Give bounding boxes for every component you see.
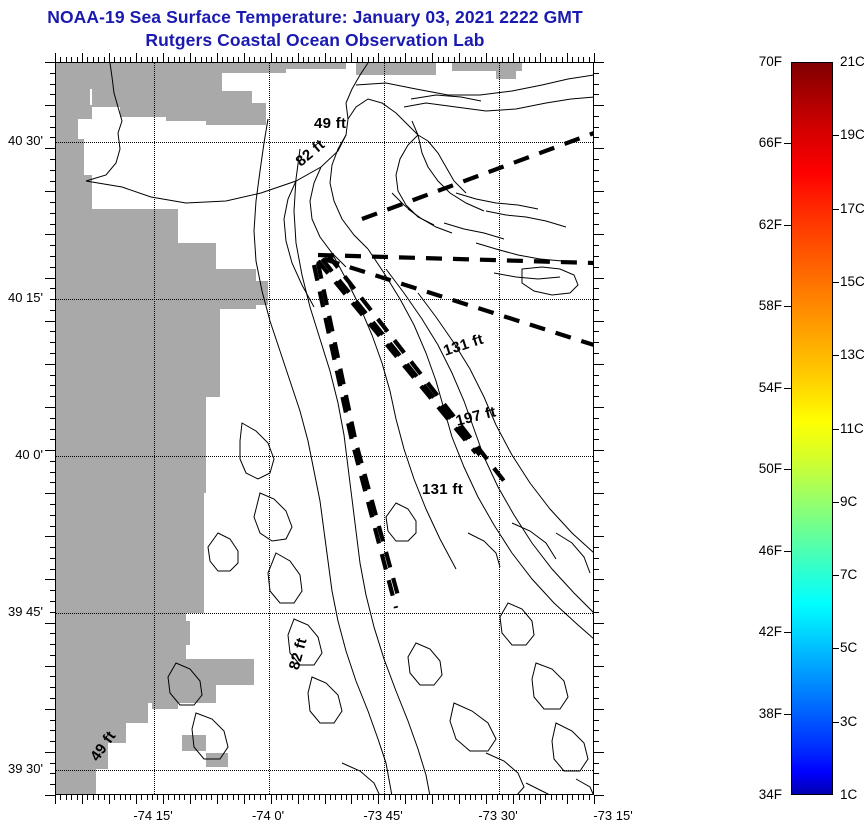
axis-tick-minor [502,57,503,62]
axis-tick-minor [50,170,55,171]
map-inner: 49 ft 82 ft 131 ft 197 ft 131 ft 82 ft 4… [56,63,593,794]
axis-tick-minor [50,299,55,300]
colorbar-label-fahrenheit: 38F [737,706,782,721]
axis-tick-major [244,53,245,62]
axis-tick-minor [594,310,599,311]
axis-tick-minor [475,57,476,62]
y-axis-label: 39 45' [0,604,43,619]
axis-tick-minor [578,795,579,800]
axis-tick-minor [50,84,55,85]
axis-tick-minor [411,57,412,62]
axis-tick-minor [50,159,55,160]
axis-tick-major [109,795,110,804]
axis-tick-minor [50,439,55,440]
axis-tick-minor [50,202,55,203]
axis-tick-minor [50,763,55,764]
axis-tick-minor [594,245,599,246]
axis-tick-major [45,666,55,667]
axis-tick-minor [594,515,599,516]
axis-tick-major [432,795,433,804]
x-axis-ticks-bottom [55,795,594,805]
axis-tick-minor [222,795,223,800]
title-line-1: NOAA-19 Sea Surface Temperature: January… [0,6,630,29]
axis-tick-minor [50,655,55,656]
axis-tick-minor [50,461,55,462]
axis-tick-minor [594,288,599,289]
axis-tick-minor [50,396,55,397]
axis-tick-major [45,795,55,796]
axis-tick-minor [147,795,148,800]
axis-tick-minor [443,795,444,800]
axis-tick-minor [346,795,347,800]
axis-tick-minor [195,795,196,800]
axis-tick-minor [422,795,423,800]
colorbar-label-celsius: 17C [840,201,864,216]
colorbar-label-fahrenheit: 42F [737,624,782,639]
axis-tick-minor [594,547,599,548]
axis-tick-minor [556,795,557,800]
axis-tick-minor [120,795,121,800]
axis-tick-minor [50,256,55,257]
axis-tick-major [163,795,164,804]
axis-tick-minor [201,795,202,800]
axis-tick-minor [98,795,99,800]
axis-tick-major [378,795,379,804]
axis-tick-minor [287,795,288,800]
coastline-bathymetry-overlay [56,63,593,794]
axis-tick-minor [475,795,476,800]
axis-tick-minor [594,159,599,160]
axis-tick-major [594,191,604,192]
axis-tick-minor [502,795,503,800]
axis-tick-minor [594,213,599,214]
axis-tick-minor [594,94,599,95]
axis-tick-minor [50,676,55,677]
axis-tick-minor [50,375,55,376]
axis-tick-minor [357,57,358,62]
axis-tick-minor [545,57,546,62]
colorbar-tick-c [833,282,839,283]
axis-tick-major [594,709,604,710]
axis-tick-minor [454,57,455,62]
axis-tick-minor [125,57,126,62]
axis-tick-minor [362,57,363,62]
axis-tick-minor [551,57,552,62]
axis-tick-minor [114,795,115,800]
axis-tick-minor [529,795,530,800]
axis-tick-major [540,795,541,804]
axis-tick-minor [594,353,599,354]
axis-tick-minor [50,601,55,602]
axis-tick-minor [98,57,99,62]
colorbar-label-fahrenheit: 50F [737,461,782,476]
axis-tick-minor [594,396,599,397]
axis-tick-major [459,795,460,804]
axis-tick-minor [303,795,304,800]
axis-tick-major [136,795,137,804]
axis-tick-major [594,234,604,235]
axis-tick-major [594,579,604,580]
axis-tick-major [82,795,83,804]
axis-tick-minor [50,127,55,128]
colorbar-label-celsius: 11C [840,421,864,436]
axis-tick-minor [594,526,599,527]
axis-tick-major [45,450,55,451]
axis-tick-major [190,53,191,62]
axis-tick-minor [492,795,493,800]
axis-tick-minor [141,57,142,62]
axis-tick-minor [50,137,55,138]
axis-tick-minor [60,795,61,800]
axis-tick-minor [50,741,55,742]
axis-tick-minor [50,526,55,527]
axis-tick-minor [130,795,131,800]
axis-tick-minor [50,720,55,721]
x-axis-label: -73 15' [573,808,653,823]
axis-tick-minor [508,795,509,800]
axis-tick-minor [481,57,482,62]
axis-tick-major [594,53,595,62]
y-axis-label: 39 30' [0,761,43,776]
axis-tick-minor [206,795,207,800]
axis-tick-minor [422,57,423,62]
axis-tick-major [45,623,55,624]
axis-tick-major [351,795,352,804]
axis-tick-minor [104,795,105,800]
axis-tick-minor [93,795,94,800]
axis-tick-minor [594,763,599,764]
axis-tick-major [217,53,218,62]
colorbar-label-celsius: 15C [840,274,864,289]
y-axis-label: 40 30' [0,133,43,148]
axis-tick-major [271,53,272,62]
axis-tick-major [594,364,604,365]
colorbar-tick-f [784,143,791,144]
axis-tick-minor [594,224,599,225]
axis-tick-major [405,53,406,62]
axis-tick-minor [594,385,599,386]
axis-tick-major [594,795,595,804]
axis-tick-minor [50,558,55,559]
axis-tick-minor [227,795,228,800]
axis-tick-minor [195,57,196,62]
axis-tick-minor [427,795,428,800]
axis-tick-minor [389,57,390,62]
axis-tick-minor [594,127,599,128]
axis-tick-major [45,148,55,149]
axis-tick-major [486,795,487,804]
axis-tick-minor [465,57,466,62]
axis-tick-minor [594,331,599,332]
colorbar-label-celsius: 5C [840,640,864,655]
axis-tick-minor [594,612,599,613]
axis-tick-minor [594,633,599,634]
axis-tick-minor [254,795,255,800]
axis-tick-minor [465,795,466,800]
axis-tick-minor [594,170,599,171]
axis-tick-minor [438,57,439,62]
axis-tick-major [136,53,137,62]
x-axis-label: -73 45' [343,808,423,823]
colorbar-tick-c [833,429,839,430]
axis-tick-major [217,795,218,804]
colorbar-tick-c [833,648,839,649]
axis-tick-major [594,407,604,408]
axis-tick-minor [233,795,234,800]
axis-tick-minor [249,57,250,62]
map-plot-area[interactable]: 49 ft 82 ft 131 ft 197 ft 131 ft 82 ft 4… [55,62,594,795]
axis-tick-major [45,709,55,710]
axis-tick-minor [287,57,288,62]
axis-tick-minor [411,795,412,800]
axis-tick-minor [50,547,55,548]
axis-tick-minor [551,795,552,800]
axis-tick-major [298,53,299,62]
axis-tick-minor [276,57,277,62]
axis-tick-major [351,53,352,62]
axis-tick-minor [184,795,185,800]
axis-tick-major [594,623,604,624]
axis-tick-minor [357,795,358,800]
axis-tick-major [513,53,514,62]
axis-tick-minor [583,795,584,800]
axis-tick-minor [524,57,525,62]
axis-tick-minor [594,472,599,473]
axis-tick-minor [594,375,599,376]
axis-tick-minor [594,676,599,677]
axis-tick-minor [470,57,471,62]
axis-tick-minor [93,57,94,62]
colorbar-label-fahrenheit: 54F [737,380,782,395]
axis-tick-minor [594,256,599,257]
y-axis-label: 40 0' [0,447,43,462]
axis-tick-minor [427,57,428,62]
axis-tick-minor [524,795,525,800]
axis-tick-minor [594,590,599,591]
axis-tick-minor [448,795,449,800]
axis-tick-major [244,795,245,804]
axis-tick-minor [400,57,401,62]
transect-track-group [314,133,593,608]
axis-tick-minor [50,94,55,95]
axis-tick-minor [308,795,309,800]
axis-tick-minor [50,590,55,591]
axis-tick-minor [152,57,153,62]
axis-tick-minor [141,795,142,800]
colorbar-label-celsius: 13C [840,347,864,362]
colorbar-label-fahrenheit: 46F [737,543,782,558]
axis-tick-minor [594,482,599,483]
y-axis-ticks-left [45,62,55,795]
depth-label-131ft-lower: 131 ft [422,481,463,498]
colorbar-tick-f [784,632,791,633]
axis-tick-major [45,105,55,106]
axis-tick-minor [50,310,55,311]
axis-tick-minor [545,795,546,800]
axis-tick-minor [594,601,599,602]
axis-tick-major [298,795,299,804]
axis-tick-minor [308,57,309,62]
axis-tick-major [594,493,604,494]
axis-tick-minor [66,795,67,800]
axis-tick-minor [50,353,55,354]
axis-tick-major [594,321,604,322]
axis-tick-minor [265,57,266,62]
axis-tick-minor [50,116,55,117]
axis-tick-minor [470,795,471,800]
axis-tick-major [594,536,604,537]
axis-tick-minor [594,730,599,731]
axis-tick-minor [87,795,88,800]
axis-tick-minor [50,73,55,74]
axis-tick-major [567,53,568,62]
axis-tick-minor [50,515,55,516]
axis-tick-major [594,450,604,451]
axis-tick-minor [50,429,55,430]
axis-tick-minor [260,795,261,800]
axis-tick-minor [594,720,599,721]
axis-tick-minor [71,795,72,800]
axis-tick-minor [303,57,304,62]
axis-tick-minor [50,482,55,483]
axis-tick-minor [594,418,599,419]
axis-tick-minor [50,633,55,634]
axis-tick-minor [211,57,212,62]
axis-tick-minor [249,795,250,800]
colorbar-tick-f [784,551,791,552]
axis-tick-major [594,666,604,667]
axis-tick-minor [222,57,223,62]
axis-tick-minor [341,795,342,800]
axis-tick-minor [147,57,148,62]
colorbar-tick-c [833,355,839,356]
axis-tick-minor [50,504,55,505]
axis-tick-major [45,234,55,235]
colorbar[interactable] [791,62,833,795]
axis-tick-minor [492,57,493,62]
axis-tick-minor [50,612,55,613]
depth-label-49ft-north: 49 ft [314,115,346,132]
axis-tick-minor [238,795,239,800]
axis-tick-minor [594,687,599,688]
axis-tick-minor [594,698,599,699]
colorbar-label-celsius: 21C [840,54,864,69]
axis-tick-minor [519,57,520,62]
axis-tick-minor [71,57,72,62]
axis-tick-minor [50,342,55,343]
axis-tick-minor [400,795,401,800]
axis-tick-minor [179,57,180,62]
axis-tick-major [594,278,604,279]
axis-tick-minor [438,795,439,800]
colorbar-label-celsius: 9C [840,494,864,509]
axis-tick-major [45,364,55,365]
axis-tick-minor [174,57,175,62]
axis-tick-major [459,53,460,62]
axis-tick-major [45,321,55,322]
axis-tick-minor [254,57,255,62]
sst-map-figure: NOAA-19 Sea Surface Temperature: January… [0,0,864,832]
axis-tick-minor [562,57,563,62]
axis-tick-minor [373,795,374,800]
title-line-2: Rutgers Coastal Ocean Observation Lab [0,29,630,52]
axis-tick-minor [130,57,131,62]
axis-tick-minor [330,57,331,62]
axis-tick-major [45,407,55,408]
axis-tick-minor [594,202,599,203]
axis-tick-major [82,53,83,62]
colorbar-tick-f [784,306,791,307]
axis-tick-minor [594,116,599,117]
axis-tick-minor [341,57,342,62]
axis-tick-minor [594,439,599,440]
axis-tick-minor [335,57,336,62]
axis-tick-major [486,53,487,62]
axis-tick-minor [50,730,55,731]
axis-tick-major [540,53,541,62]
axis-tick-minor [50,213,55,214]
axis-tick-minor [384,795,385,800]
x-axis-label: -74 15' [113,808,193,823]
axis-tick-minor [373,57,374,62]
axis-tick-minor [168,795,169,800]
axis-tick-minor [481,795,482,800]
axis-tick-minor [519,795,520,800]
axis-tick-major [45,536,55,537]
axis-tick-major [271,795,272,804]
axis-tick-minor [389,795,390,800]
axis-tick-minor [589,795,590,800]
axis-tick-minor [314,57,315,62]
axis-tick-minor [368,795,369,800]
axis-tick-minor [211,795,212,800]
axis-tick-major [55,795,56,804]
axis-tick-minor [227,57,228,62]
axis-tick-minor [77,57,78,62]
colorbar-label-fahrenheit: 62F [737,217,782,232]
colorbar-tick-c [833,575,839,576]
axis-tick-minor [87,57,88,62]
axis-tick-minor [50,385,55,386]
colorbar-tick-c [833,209,839,210]
axis-tick-minor [594,342,599,343]
axis-tick-minor [448,57,449,62]
axis-tick-minor [594,644,599,645]
axis-tick-major [594,105,604,106]
y-axis-ticks-right [594,62,604,795]
axis-tick-minor [594,299,599,300]
axis-tick-major [432,53,433,62]
axis-tick-minor [50,267,55,268]
axis-tick-major [190,795,191,804]
colorbar-label-fahrenheit: 58F [737,298,782,313]
y-axis-label: 40 15' [0,290,43,305]
axis-tick-minor [594,558,599,559]
colorbar-label-celsius: 1C [840,787,864,802]
axis-tick-minor [368,57,369,62]
figure-title: NOAA-19 Sea Surface Temperature: January… [0,6,630,52]
axis-tick-minor [535,795,536,800]
axis-tick-minor [556,57,557,62]
x-axis-label: -74 0' [228,808,308,823]
axis-tick-major [45,62,55,63]
axis-tick-minor [594,137,599,138]
axis-tick-minor [594,741,599,742]
axis-tick-major [594,795,604,796]
axis-tick-minor [594,267,599,268]
colorbar-tick-f [784,388,791,389]
axis-tick-major [325,795,326,804]
